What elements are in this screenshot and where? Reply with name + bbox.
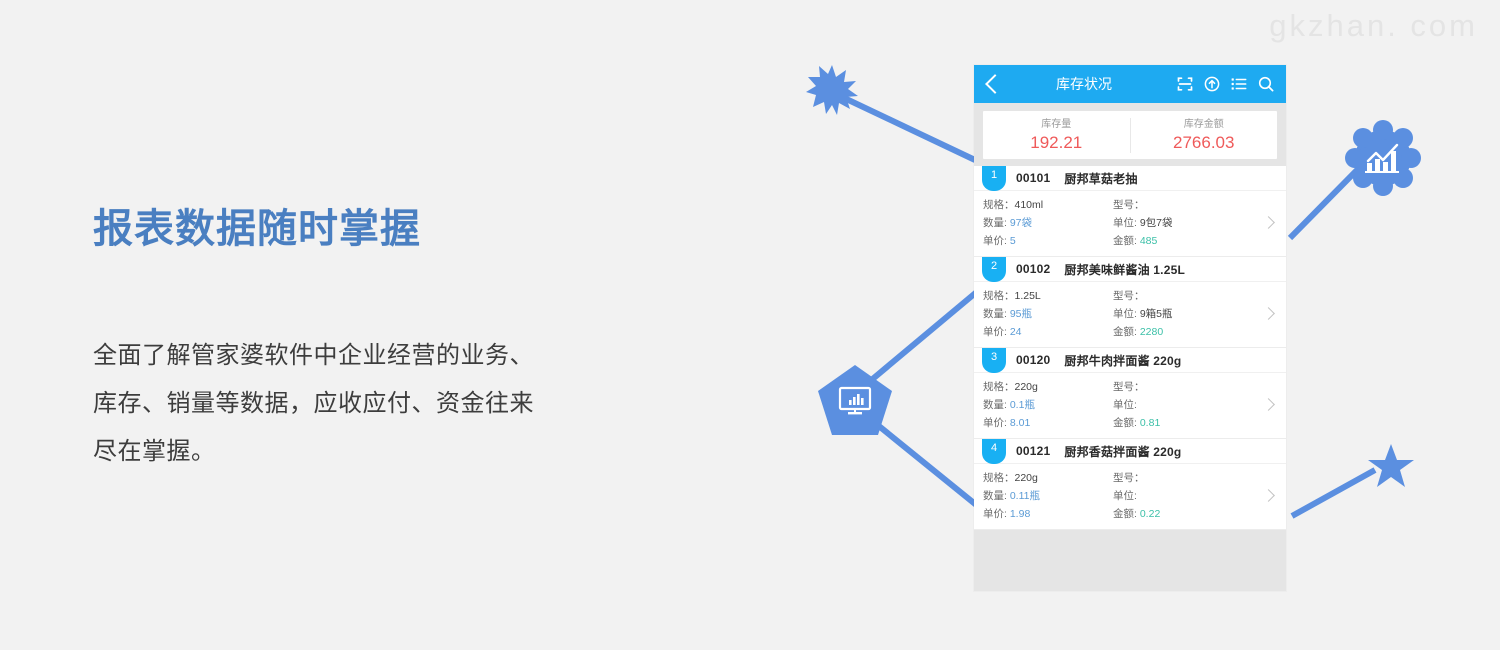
field-model: 型号： bbox=[1113, 469, 1253, 487]
watermark-text: gkzhan. com bbox=[1269, 8, 1478, 44]
search-icon[interactable] bbox=[1258, 76, 1274, 92]
pentagon-monitor-badge bbox=[818, 365, 892, 437]
promo-body-line-3: 尽在掌握。 bbox=[93, 428, 593, 476]
product-code: 00101 bbox=[1016, 171, 1050, 185]
list-icon[interactable] bbox=[1231, 76, 1247, 92]
field-price: 单价: 1.98 bbox=[983, 505, 1113, 523]
field-amount: 金额: 485 bbox=[1113, 232, 1253, 250]
summary-value: 2766.03 bbox=[1173, 132, 1234, 153]
app-topbar: 库存状况 bbox=[974, 65, 1286, 103]
scan-icon[interactable] bbox=[1177, 76, 1193, 92]
starburst-icon bbox=[806, 63, 858, 115]
product-name: 厨邦牛肉拌面酱 220g bbox=[1064, 352, 1181, 369]
table-row[interactable]: 2 00102 厨邦美味鲜酱油 1.25L 规格：1.25L 数量: 95瓶 单… bbox=[974, 257, 1286, 348]
chevron-right-icon[interactable] bbox=[1262, 398, 1275, 411]
product-code: 00102 bbox=[1016, 262, 1050, 276]
promo-body-line-1: 全面了解管家婆软件中企业经营的业务、 bbox=[93, 332, 593, 380]
row-col-left: 规格：220g 数量: 0.1瓶 单价: 8.01 bbox=[983, 378, 1113, 432]
chevron-right-icon[interactable] bbox=[1262, 489, 1275, 502]
field-spec: 规格：410ml bbox=[983, 196, 1113, 214]
row-col-left: 规格：410ml 数量: 97袋 单价: 5 bbox=[983, 196, 1113, 250]
row-col-left: 规格：220g 数量: 0.11瓶 单价: 1.98 bbox=[983, 469, 1113, 523]
field-unit: 单位: 9包7袋 bbox=[1113, 214, 1253, 232]
page-title: 报表数据随时掌握 bbox=[93, 196, 421, 254]
starburst-badge bbox=[806, 63, 858, 115]
field-model: 型号： bbox=[1113, 287, 1253, 305]
row-header: 1 00101 厨邦草菇老抽 bbox=[974, 166, 1286, 191]
summary-label: 库存量 bbox=[1041, 118, 1071, 132]
rank-badge: 4 bbox=[982, 439, 1006, 464]
product-code: 00120 bbox=[1016, 353, 1050, 367]
field-spec: 规格：220g bbox=[983, 378, 1113, 396]
field-spec: 规格：220g bbox=[983, 469, 1113, 487]
monitor-chart-icon bbox=[818, 365, 892, 437]
row-col-right: 型号： 单位: 金额: 0.81 bbox=[1113, 378, 1253, 432]
product-name: 厨邦草菇老抽 bbox=[1064, 170, 1137, 187]
promo-body-line-2: 库存、销量等数据，应收应付、资金往来 bbox=[93, 380, 593, 428]
field-qty: 数量: 0.11瓶 bbox=[983, 487, 1113, 505]
field-unit: 单位: bbox=[1113, 396, 1253, 414]
product-code: 00121 bbox=[1016, 444, 1050, 458]
summary-card: 库存量 192.21 库存金额 2766.03 bbox=[983, 111, 1277, 159]
rank-badge: 3 bbox=[982, 348, 1006, 373]
table-row[interactable]: 3 00120 厨邦牛肉拌面酱 220g 规格：220g 数量: 0.1瓶 单价… bbox=[974, 348, 1286, 439]
poster-canvas: gkzhan. com 报表数据随时掌握 全面了解管家婆软件中企业经营的业务、 … bbox=[0, 0, 1500, 650]
product-name: 厨邦香菇拌面酱 220g bbox=[1064, 443, 1181, 460]
summary-cell-stock-qty: 库存量 192.21 bbox=[983, 118, 1130, 153]
summary-cell-stock-amount: 库存金额 2766.03 bbox=[1130, 118, 1278, 153]
rank-badge: 1 bbox=[982, 166, 1006, 191]
row-body: 规格：1.25L 数量: 95瓶 单价: 24 型号： 单位: 9箱5瓶 金额:… bbox=[974, 282, 1286, 347]
row-body: 规格：220g 数量: 0.1瓶 单价: 8.01 型号： 单位: 金额: 0.… bbox=[974, 373, 1286, 438]
row-col-right: 型号： 单位: 9箱5瓶 金额: 2280 bbox=[1113, 287, 1253, 341]
field-model: 型号： bbox=[1113, 196, 1253, 214]
row-col-right: 型号： 单位: 9包7袋 金额: 485 bbox=[1113, 196, 1253, 250]
field-spec: 规格：1.25L bbox=[983, 287, 1113, 305]
field-amount: 金额: 0.81 bbox=[1113, 414, 1253, 432]
field-price: 单价: 5 bbox=[983, 232, 1113, 250]
topbar-icon-group bbox=[1177, 76, 1274, 92]
inventory-list: 1 00101 厨邦草菇老抽 规格：410ml 数量: 97袋 单价: 5 型号… bbox=[974, 166, 1286, 530]
list-footer-space bbox=[974, 530, 1286, 570]
app-panel: 库存状况 bbox=[974, 65, 1286, 591]
row-col-right: 型号： 单位: 金额: 0.22 bbox=[1113, 469, 1253, 523]
table-row[interactable]: 1 00101 厨邦草菇老抽 规格：410ml 数量: 97袋 单价: 5 型号… bbox=[974, 166, 1286, 257]
field-unit: 单位: 9箱5瓶 bbox=[1113, 305, 1253, 323]
scalloped-chart-badge bbox=[1345, 120, 1421, 196]
circle-up-arrow-icon[interactable] bbox=[1204, 76, 1220, 92]
row-header: 4 00121 厨邦香菇拌面酱 220g bbox=[974, 439, 1286, 464]
star-icon bbox=[1368, 443, 1414, 489]
promo-body: 全面了解管家婆软件中企业经营的业务、 库存、销量等数据，应收应付、资金往来 尽在… bbox=[93, 332, 593, 476]
field-qty: 数量: 0.1瓶 bbox=[983, 396, 1113, 414]
row-header: 3 00120 厨邦牛肉拌面酱 220g bbox=[974, 348, 1286, 373]
product-name: 厨邦美味鲜酱油 1.25L bbox=[1064, 261, 1185, 278]
field-amount: 金额: 2280 bbox=[1113, 323, 1253, 341]
back-chevron-icon[interactable] bbox=[985, 74, 1005, 94]
row-header: 2 00102 厨邦美味鲜酱油 1.25L bbox=[974, 257, 1286, 282]
field-unit: 单位: bbox=[1113, 487, 1253, 505]
row-col-left: 规格：1.25L 数量: 95瓶 单价: 24 bbox=[983, 287, 1113, 341]
summary-value: 192.21 bbox=[1030, 132, 1082, 153]
field-price: 单价: 8.01 bbox=[983, 414, 1113, 432]
field-qty: 数量: 97袋 bbox=[983, 214, 1113, 232]
summary-card-wrap: 库存量 192.21 库存金额 2766.03 bbox=[974, 103, 1286, 166]
summary-label: 库存金额 bbox=[1184, 118, 1224, 132]
chevron-right-icon[interactable] bbox=[1262, 307, 1275, 320]
star-badge bbox=[1368, 443, 1414, 489]
row-body: 规格：410ml 数量: 97袋 单价: 5 型号： 单位: 9包7袋 金额: … bbox=[974, 191, 1286, 256]
chevron-right-icon[interactable] bbox=[1262, 216, 1275, 229]
field-qty: 数量: 95瓶 bbox=[983, 305, 1113, 323]
table-row[interactable]: 4 00121 厨邦香菇拌面酱 220g 规格：220g 数量: 0.11瓶 单… bbox=[974, 439, 1286, 530]
field-price: 单价: 24 bbox=[983, 323, 1113, 341]
bar-line-chart-icon bbox=[1345, 120, 1421, 196]
rank-badge: 2 bbox=[982, 257, 1006, 282]
field-model: 型号： bbox=[1113, 378, 1253, 396]
row-body: 规格：220g 数量: 0.11瓶 单价: 1.98 型号： 单位: 金额: 0… bbox=[974, 464, 1286, 529]
field-amount: 金额: 0.22 bbox=[1113, 505, 1253, 523]
